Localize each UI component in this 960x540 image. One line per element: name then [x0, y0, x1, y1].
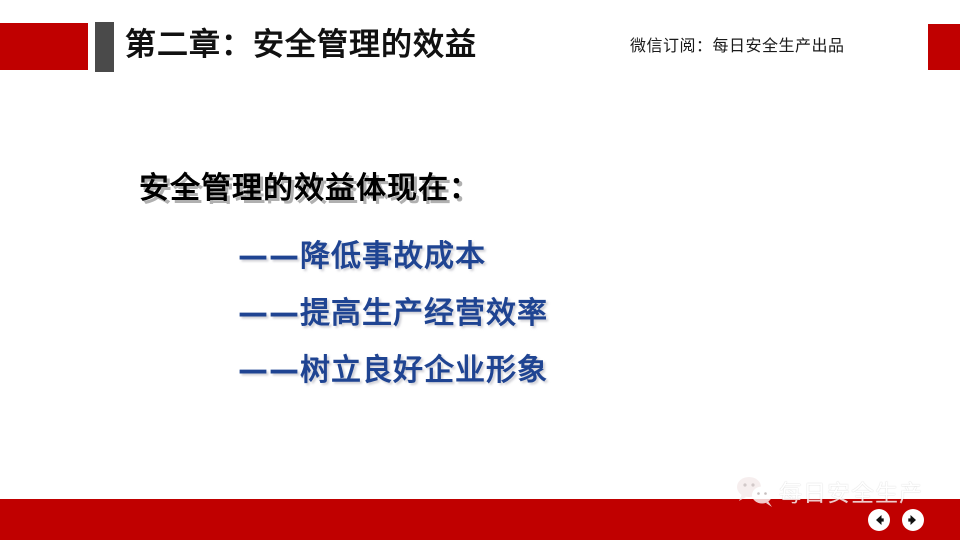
slide-navigation — [868, 509, 924, 531]
bullet-item: ——树立良好企业形象 — [238, 345, 548, 389]
arrow-right-icon — [906, 513, 920, 527]
header-red-block-left — [0, 23, 88, 70]
wechat-icon — [735, 474, 775, 508]
bullet-item: ——提高生产经营效率 — [238, 288, 548, 332]
watermark: 每日安全生产 — [735, 470, 945, 512]
page-title: 第二章：安全管理的效益 — [125, 24, 477, 66]
next-slide-button[interactable] — [902, 509, 924, 531]
watermark-label: 每日安全生产 — [779, 474, 923, 508]
slide-canvas: 第二章：安全管理的效益 微信订阅：每日安全生产出品 安全管理的效益体现在： ——… — [0, 0, 960, 540]
body-heading: 安全管理的效益体现在： — [139, 163, 480, 207]
header-red-block-right — [928, 24, 960, 70]
arrow-left-icon — [872, 513, 886, 527]
header-gray-bar — [95, 22, 114, 72]
subscribe-note: 微信订阅：每日安全生产出品 — [630, 32, 845, 56]
bullet-item: ——降低事故成本 — [238, 231, 486, 275]
prev-slide-button[interactable] — [868, 509, 890, 531]
